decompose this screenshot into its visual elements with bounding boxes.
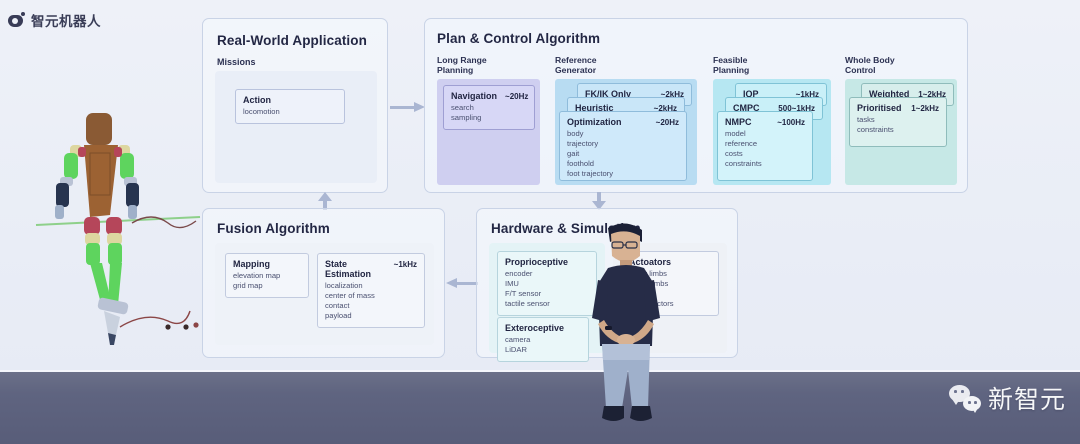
- card-title: Optimization: [567, 117, 622, 127]
- card-title: Proprioceptive: [505, 257, 568, 267]
- presenter-person: [578, 222, 674, 436]
- panel-title-real-world: Real-World Application: [217, 33, 367, 48]
- arrow-real-world-to-plan-icon: [390, 102, 426, 112]
- card-title: Action: [243, 95, 271, 105]
- brand-logo-text: 智元机器人: [31, 10, 101, 30]
- card-navigation[interactable]: Navigation ~20Hz search sampling: [443, 85, 535, 130]
- card-items: encoder IMU F/T sensor tactile sensor: [505, 269, 589, 309]
- card-title: Exteroceptive: [505, 323, 564, 333]
- card-items: elevation map grid map: [233, 271, 301, 291]
- column-label-whole-body-control: Whole Body Control: [845, 55, 895, 76]
- panel-plan-control-algorithm: Plan & Control Algorithm Long Range Plan…: [424, 18, 968, 193]
- card-items: locomotion: [243, 107, 337, 117]
- panel-title-fusion: Fusion Algorithm: [217, 221, 330, 236]
- presentation-stage: 智元机器人: [0, 0, 1080, 444]
- column-box-reference-generator: FK/IK Only ~2kHz Heuristic ~2kHz Optimiz…: [555, 79, 697, 185]
- card-items: localization center of mass contact payl…: [325, 281, 417, 321]
- card-frequency: ~1kHz: [394, 260, 417, 269]
- column-box-whole-body-control: Weighted 1~2kHz Prioritised 1~2kHz tasks…: [845, 79, 957, 185]
- missions-container: Action locomotion: [215, 71, 377, 183]
- card-items: body trajectory gait foothold foot traje…: [567, 129, 679, 179]
- column-label-long-range-planning: Long Range Planning: [437, 55, 487, 76]
- fusion-container: Mapping elevation map grid map State Est…: [215, 243, 434, 345]
- missions-label: Missions: [217, 57, 256, 67]
- card-items: tasks constraints: [857, 115, 939, 135]
- card-mapping[interactable]: Mapping elevation map grid map: [225, 253, 309, 298]
- card-title: Prioritised: [857, 103, 902, 113]
- column-label-feasible-planning: Feasible Planning: [713, 55, 749, 76]
- panel-real-world-application: Real-World Application Missions Action l…: [202, 18, 388, 193]
- card-nmpc[interactable]: NMPC ~100Hz model reference costs constr…: [717, 111, 813, 181]
- column-box-feasible-planning: IQP ~1kHz CMPC 500~1kHz NMPC ~100Hz mod: [713, 79, 831, 185]
- card-state-estimation[interactable]: State Estimation ~1kHz localization cent…: [317, 253, 425, 328]
- card-frequency: ~100Hz: [777, 118, 805, 127]
- card-action[interactable]: Action locomotion: [235, 89, 345, 124]
- card-title: NMPC: [725, 117, 752, 127]
- card-title: Navigation: [451, 91, 497, 101]
- card-frequency: ~20Hz: [656, 118, 679, 127]
- card-optimization[interactable]: Optimization ~20Hz body trajectory gait …: [559, 111, 687, 181]
- card-title: State Estimation: [325, 259, 386, 279]
- simulated-robot-figure: [28, 95, 208, 350]
- card-title: Mapping: [233, 259, 270, 269]
- card-exteroceptive[interactable]: Exteroceptive camera LiDAR: [497, 317, 589, 362]
- card-items: camera LiDAR: [505, 335, 581, 355]
- watermark-text: 新智元: [988, 380, 1066, 416]
- panel-title-plan-control: Plan & Control Algorithm: [437, 31, 600, 46]
- card-items: model reference costs constraints: [725, 129, 805, 169]
- brand-logo: 智元机器人: [8, 10, 101, 30]
- panel-fusion-algorithm: Fusion Algorithm Mapping elevation map g…: [202, 208, 445, 358]
- arrow-hardware-to-fusion-icon: [446, 278, 478, 288]
- stage-floor: [0, 372, 1080, 444]
- card-items: search sampling: [451, 103, 527, 123]
- card-prioritised[interactable]: Prioritised 1~2kHz tasks constraints: [849, 97, 947, 147]
- wechat-watermark: 新智元: [949, 380, 1066, 416]
- card-frequency: 1~2kHz: [911, 104, 939, 113]
- column-label-reference-generator: Reference Generator: [555, 55, 597, 76]
- agibot-logo-icon: [8, 12, 25, 29]
- stage-floor-edge: [0, 370, 1080, 372]
- column-box-long-range-planning: Navigation ~20Hz search sampling: [437, 79, 540, 185]
- wechat-icon: [949, 385, 981, 411]
- card-frequency: ~20Hz: [505, 92, 528, 101]
